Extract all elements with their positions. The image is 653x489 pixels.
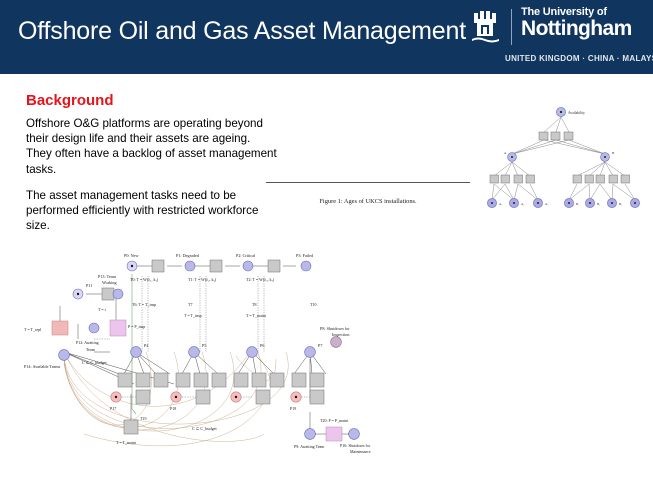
- chart-caption: Figure 1: Ages of UKCS installations.: [262, 198, 474, 205]
- logo-divider: [511, 9, 512, 45]
- svg-text:T1: T = W(λ₂, k₂): T1: T = W(λ₂, k₂): [188, 277, 217, 283]
- svg-text:T19: T19: [140, 416, 146, 421]
- castle-logo-icon: [469, 8, 503, 48]
- background-section: Background Offshore O&G platforms are op…: [26, 92, 278, 233]
- chart-x-axis: [266, 182, 470, 183]
- svg-text:T = T_maint: T = T_maint: [246, 313, 267, 318]
- svg-text:A₁: A₁: [499, 202, 502, 206]
- page-header: Offshore Oil and Gas Asset Management T: [0, 0, 653, 74]
- svg-text:Maintenance: Maintenance: [350, 449, 371, 454]
- svg-text:P2: Critical: P2: Critical: [236, 253, 256, 258]
- chart-x-tick-labels: [262, 184, 474, 194]
- svg-text:P3: Failed: P3: Failed: [296, 253, 314, 258]
- svg-text:Team: Team: [86, 347, 96, 352]
- svg-text:T6: T = T_insp: T6: T = T_insp: [132, 302, 156, 307]
- svg-text:P5: P5: [202, 343, 206, 348]
- svg-text:P8: Shutdown for: P8: Shutdown for: [320, 326, 350, 331]
- svg-text:P9: Awaiting Team: P9: Awaiting Team: [294, 444, 325, 449]
- petri-net-model-diagram: P0: New T0: T = W(λ₁, k₁) P1: Degraded T…: [24, 234, 376, 462]
- svg-text:T2: T = W(λ₃, k₃): T2: T = W(λ₃, k₃): [246, 277, 275, 283]
- svg-text:T = T_maint: T = T_maint: [116, 440, 137, 445]
- svg-text:T7: T7: [188, 302, 192, 307]
- svg-text:B₁: B₁: [576, 202, 579, 206]
- svg-text:P7: P7: [318, 343, 322, 348]
- svg-text:P1: Degraded: P1: Degraded: [176, 253, 200, 258]
- svg-text:C ⊆ C_budget: C ⊆ C_budget: [82, 360, 108, 365]
- fault-tree-diagram: Availability A B: [472, 96, 650, 218]
- logo-wordmark: The University of Nottingham: [521, 6, 632, 40]
- svg-text:P12: Awaiting: P12: Awaiting: [76, 340, 99, 345]
- svg-text:T20: P = P_maint: T20: P = P_maint: [320, 418, 349, 423]
- logo-countries: UNITED KINGDOM · CHINA · MALAYSIA: [505, 54, 653, 63]
- svg-text:P10: Shutdown for: P10: Shutdown for: [340, 443, 371, 448]
- svg-text:T = T_repl: T = T_repl: [24, 327, 42, 332]
- svg-text:P13: Team: P13: Team: [98, 274, 117, 279]
- page-title: Offshore Oil and Gas Asset Management: [18, 17, 466, 46]
- svg-text:P6: P6: [260, 343, 264, 348]
- svg-text:Availability: Availability: [568, 111, 585, 115]
- svg-text:P4: P4: [144, 343, 149, 348]
- svg-text:T = t: T = t: [98, 307, 107, 312]
- background-heading: Background: [26, 92, 278, 109]
- svg-text:Inspection: Inspection: [332, 332, 350, 337]
- svg-text:P19: P19: [290, 406, 296, 411]
- svg-text:P = P_insp: P = P_insp: [128, 324, 145, 329]
- svg-text:T0: T = W(λ₁, k₁): T0: T = W(λ₁, k₁): [130, 277, 159, 283]
- svg-text:Working: Working: [102, 280, 117, 285]
- svg-text:T = T_insp: T = T_insp: [184, 313, 202, 318]
- svg-text:P18: P18: [170, 406, 176, 411]
- svg-text:P17: P17: [110, 406, 116, 411]
- svg-text:A₂: A₂: [521, 202, 524, 206]
- svg-text:T8: T8: [252, 302, 256, 307]
- svg-text:P0: New: P0: New: [124, 253, 139, 258]
- university-logo: The University of Nottingham UNITED KING…: [463, 6, 645, 68]
- svg-text:B₂: B₂: [597, 202, 600, 206]
- logo-nottingham: Nottingham: [521, 18, 632, 40]
- svg-text:B₃: B₃: [619, 202, 622, 206]
- svg-text:B: B: [612, 151, 615, 155]
- svg-text:C ⊆ C_budget: C ⊆ C_budget: [192, 426, 218, 431]
- ukcs-installations-bar-chart: Figure 1: Ages of UKCS installations.: [262, 96, 474, 214]
- svg-text:A₃: A₃: [545, 202, 548, 206]
- background-paragraph-1: Offshore O&G platforms are operating bey…: [26, 116, 278, 177]
- svg-text:T10: T10: [310, 302, 316, 307]
- chart-plot-area: [266, 96, 470, 182]
- svg-text:P11: P11: [86, 283, 92, 288]
- background-paragraph-2: The asset management tasks need to be pe…: [26, 188, 278, 234]
- svg-text:A: A: [504, 151, 507, 155]
- svg-text:P14: Available Teams: P14: Available Teams: [24, 364, 61, 369]
